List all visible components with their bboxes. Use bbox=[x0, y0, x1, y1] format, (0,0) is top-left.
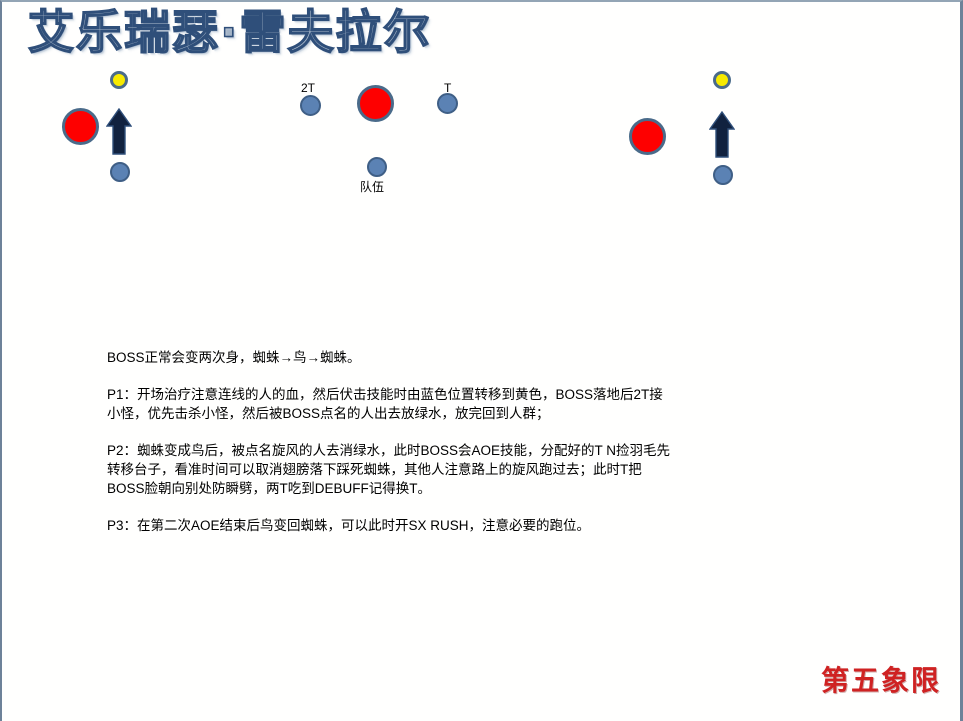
note-phase-3: P3：在第二次AOE结束后鸟变回蜘蛛，可以此时开SX RUSH，注意必要的跑位。 bbox=[107, 516, 747, 535]
note-phase-2: P2：蜘蛛变成鸟后，被点名旋风的人去消绿水，此时BOSS会AOE技能，分配好的T… bbox=[107, 441, 747, 498]
note-intro: BOSS正常会变两次身，蜘蛛→鸟→蜘蛛。 bbox=[107, 348, 747, 367]
left-player-token bbox=[110, 162, 130, 182]
raid-group-token bbox=[367, 157, 387, 177]
offtank-label: 2T bbox=[301, 81, 315, 95]
center-boss-token bbox=[357, 85, 394, 122]
offtank-token bbox=[300, 95, 321, 116]
left-boss-token bbox=[62, 108, 99, 145]
right-boss-token bbox=[629, 118, 666, 155]
left-movement-arrow-icon bbox=[106, 108, 132, 156]
right-movement-arrow-icon bbox=[709, 111, 735, 159]
presentation-slide: 艾乐瑞瑟·雷夫拉尔 2T T 队伍 BOSS正常会变两次身，蜘蛛→鸟→蜘蛛。 P… bbox=[0, 0, 963, 721]
maintank-token bbox=[437, 93, 458, 114]
right-player-token bbox=[713, 165, 733, 185]
footer-watermark: 第五象限 bbox=[821, 659, 941, 699]
left-yellow-marker-token bbox=[110, 71, 128, 89]
raid-group-label: 队伍 bbox=[360, 178, 384, 195]
strategy-notes: BOSS正常会变两次身，蜘蛛→鸟→蜘蛛。 P1：开场治疗注意连线的人的血，然后伏… bbox=[107, 348, 747, 535]
right-yellow-marker-token bbox=[713, 71, 731, 89]
page-title: 艾乐瑞瑟·雷夫拉尔 bbox=[28, 4, 431, 60]
note-phase-1: P1：开场治疗注意连线的人的血，然后伏击技能时由蓝色位置转移到黄色，BOSS落地… bbox=[107, 385, 747, 423]
